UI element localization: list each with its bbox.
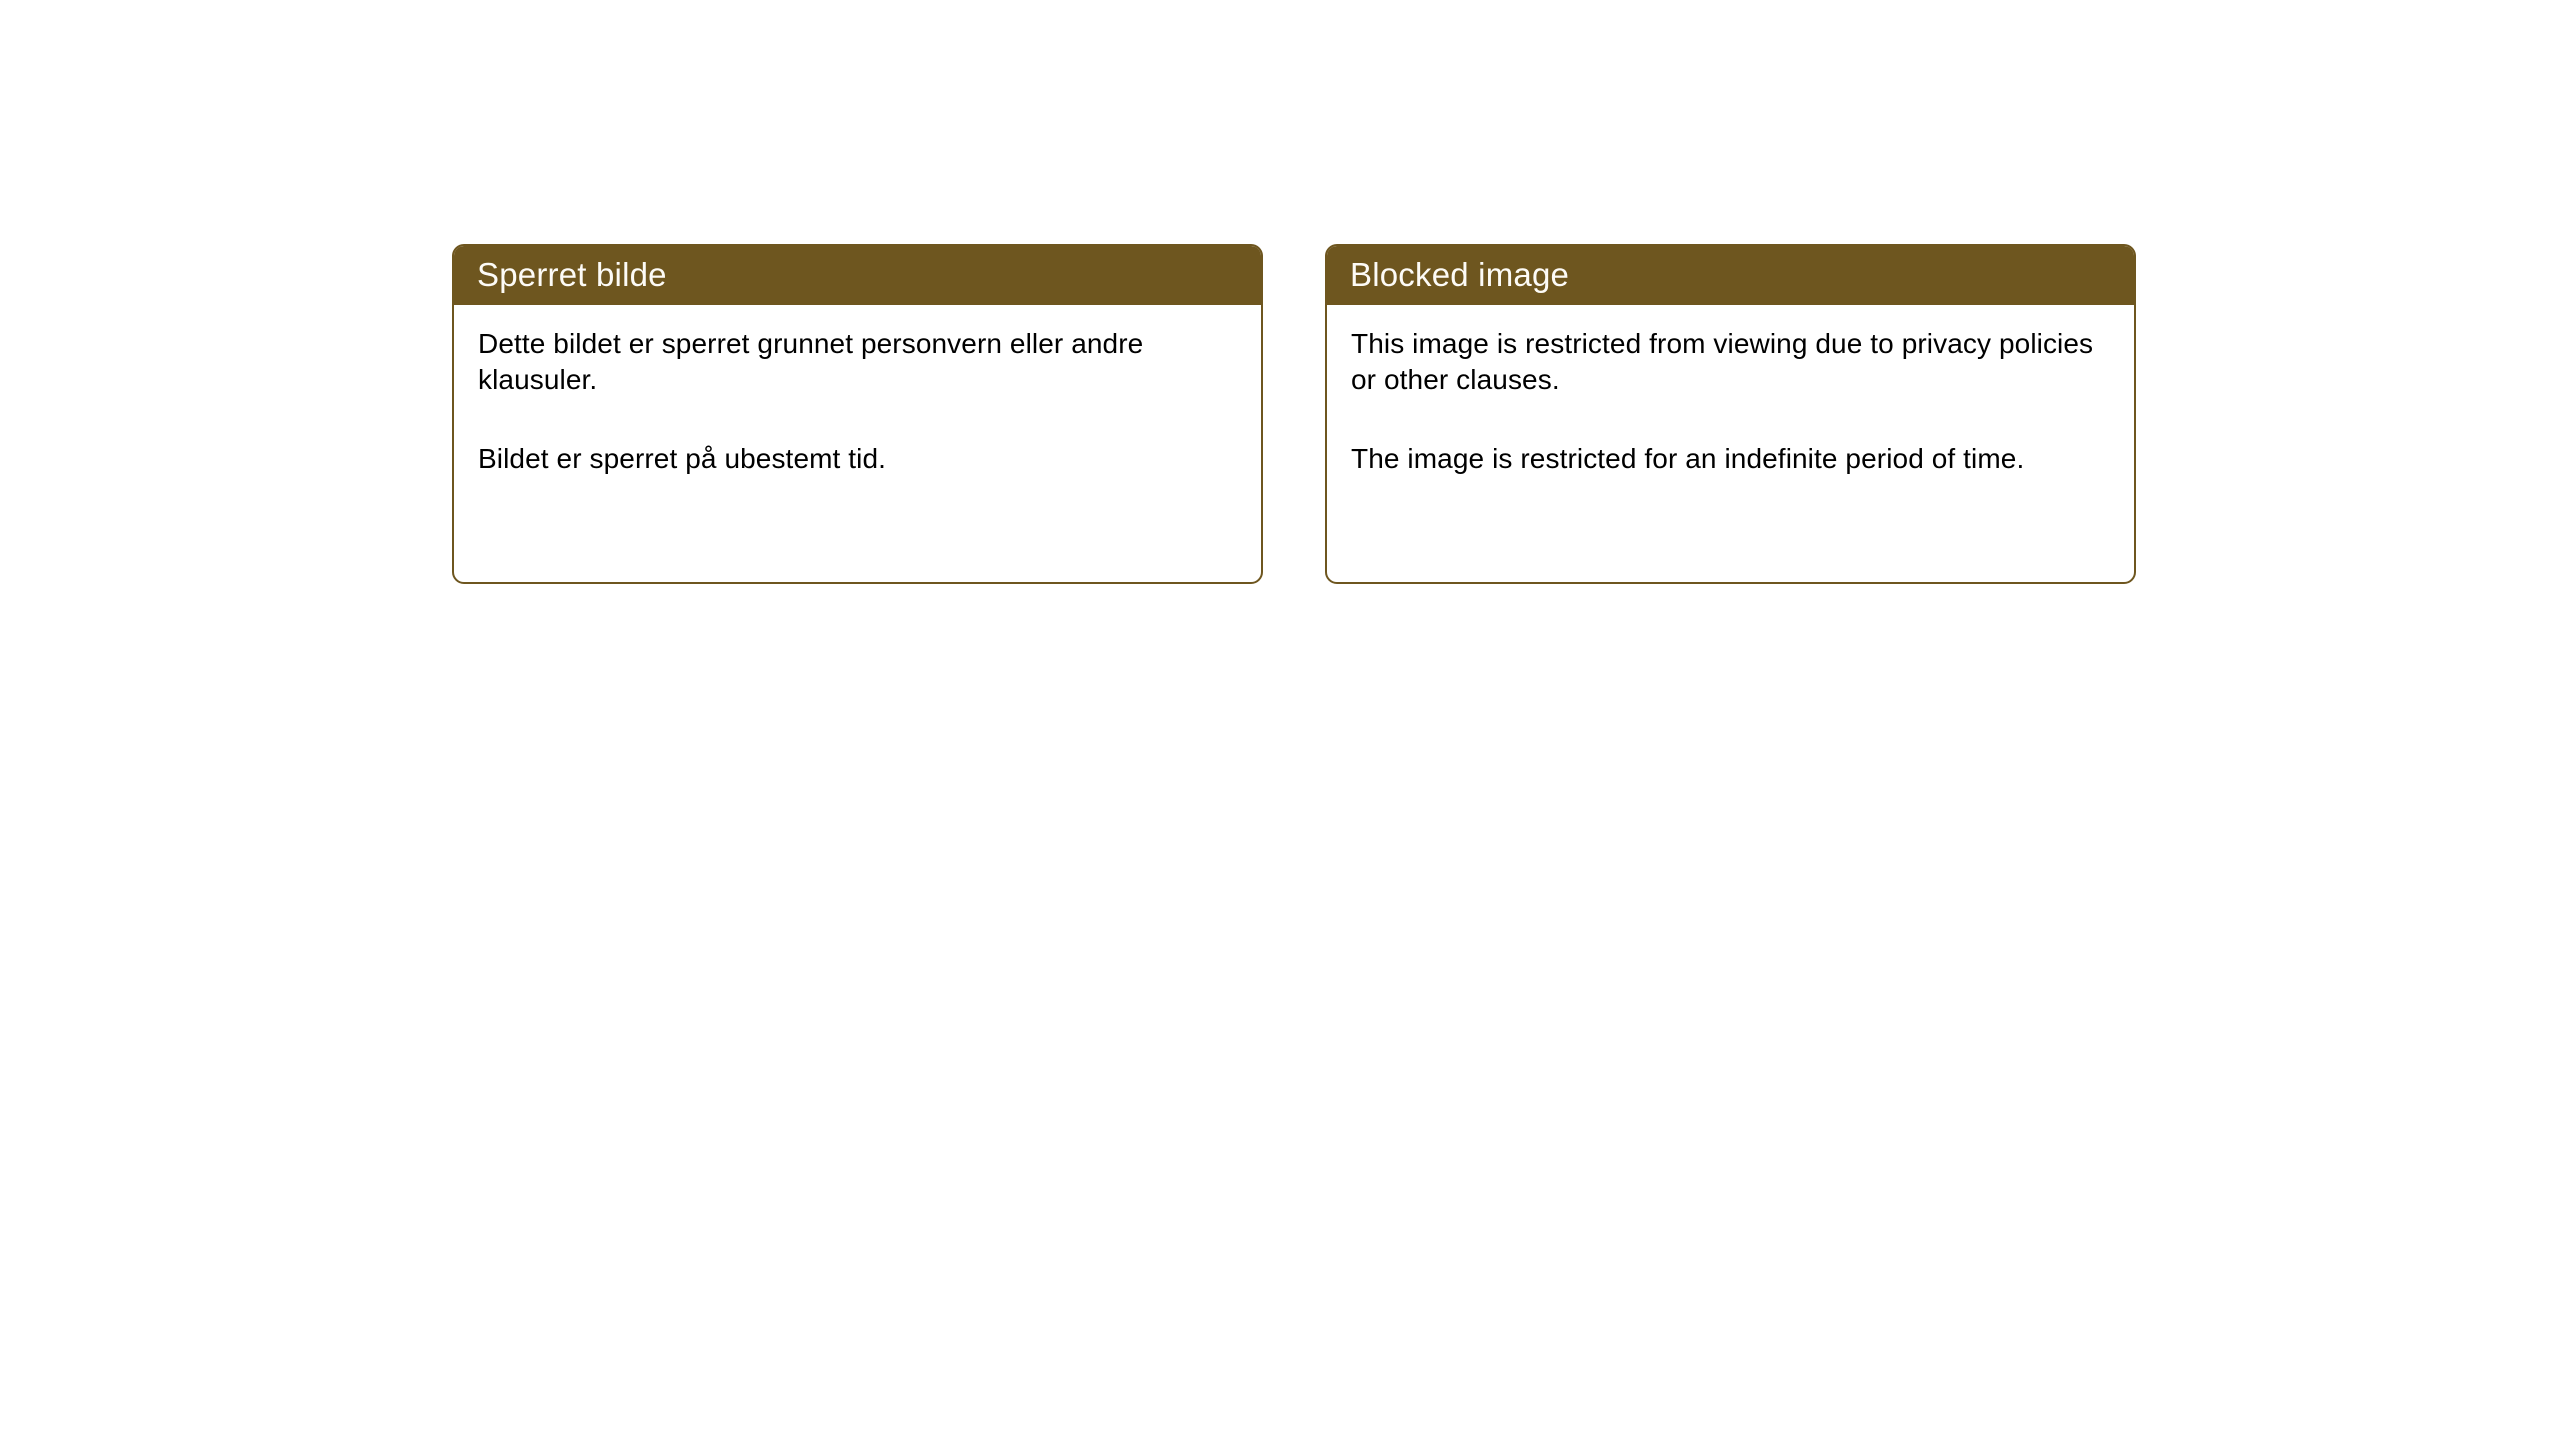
notice-paragraph-reason-en: This image is restricted from viewing du…	[1351, 326, 2110, 398]
notice-card-header-no: Sperret bilde	[452, 244, 1263, 305]
notice-paragraph-duration-no: Bildet er sperret på ubestemt tid.	[478, 441, 1237, 477]
notice-card-body-no: Dette bildet er sperret grunnet personve…	[454, 305, 1261, 582]
notice-card-title-no: Sperret bilde	[452, 258, 667, 291]
notice-paragraph-reason-no: Dette bildet er sperret grunnet personve…	[478, 326, 1237, 398]
notice-card-body-en: This image is restricted from viewing du…	[1327, 305, 2134, 582]
page-canvas: Sperret bilde Dette bildet er sperret gr…	[0, 0, 2560, 1440]
notice-paragraph-duration-en: The image is restricted for an indefinit…	[1351, 441, 2110, 477]
notice-card-title-en: Blocked image	[1325, 258, 1569, 291]
blocked-image-notice-card-en: Blocked image This image is restricted f…	[1325, 244, 2136, 584]
notice-card-header-en: Blocked image	[1325, 244, 2136, 305]
blocked-image-notice-card-no: Sperret bilde Dette bildet er sperret gr…	[452, 244, 1263, 584]
